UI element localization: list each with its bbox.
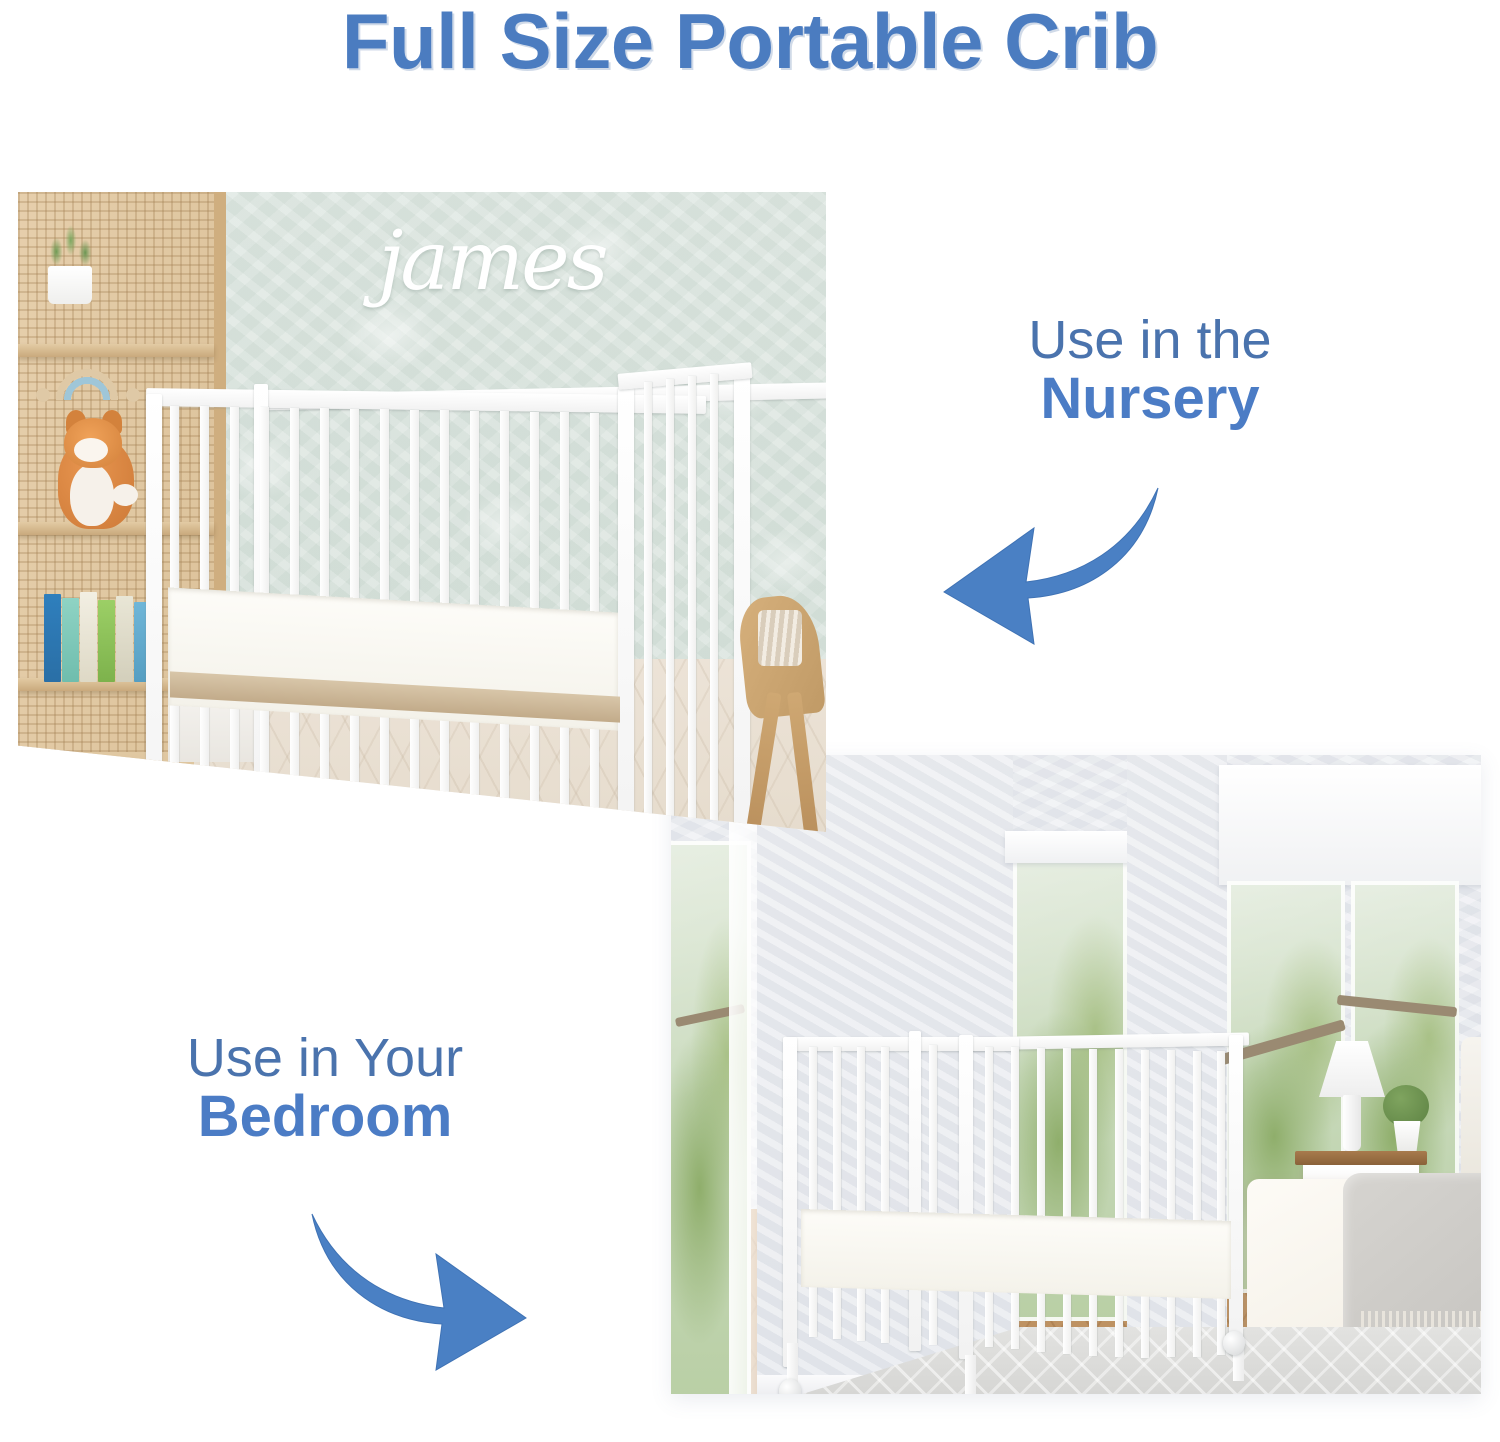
- tree-branch: [1337, 995, 1457, 1017]
- wall-art-name: james: [378, 210, 678, 320]
- stuffed-fox-snout: [74, 438, 108, 462]
- photo-bedroom: [671, 755, 1481, 1394]
- rocking-horse-mane: [758, 610, 802, 666]
- book: [44, 594, 61, 682]
- shelf-lower-cabinet: [18, 752, 194, 832]
- callout-nursery-line2: Nursery: [960, 369, 1340, 430]
- crib-corner-post-left-front: [783, 1037, 797, 1367]
- crib-corner-post-right-front: [618, 388, 634, 832]
- crib-leg-center-front: [965, 1355, 976, 1394]
- stuffed-fox-tail-tip: [112, 484, 138, 506]
- book: [116, 596, 133, 682]
- crib-corner-post-left-front: [146, 394, 162, 832]
- table-lamp-base: [1343, 1095, 1361, 1151]
- callout-bedroom-line2: Bedroom: [130, 1087, 520, 1148]
- crib-corner-post-left-back: [909, 1031, 921, 1351]
- product-feature-image: Full Size Portable Crib james: [0, 0, 1500, 1442]
- wood-bead: [36, 388, 50, 402]
- caster-right: [1223, 1331, 1245, 1355]
- page-title: Full Size Portable Crib: [0, 0, 1500, 87]
- curved-arrow-right-icon: [300, 1196, 540, 1376]
- book: [98, 600, 115, 682]
- photo-nursery: james: [18, 192, 826, 832]
- childrens-books: [40, 590, 158, 682]
- nightstand-top: [1295, 1151, 1427, 1165]
- window-valance-right: [1219, 765, 1481, 885]
- book: [62, 598, 79, 682]
- crib-corner-post-right: [1229, 1035, 1243, 1353]
- rainbow-stacker-toy: [44, 362, 130, 400]
- crib-mattress: [801, 1209, 1231, 1299]
- callout-bedroom: Use in Your Bedroom: [130, 1030, 520, 1148]
- stuffed-fox-belly: [70, 464, 114, 526]
- shelf-board: [18, 344, 214, 357]
- wood-bead: [126, 388, 140, 402]
- wooden-rocking-horse: [738, 596, 826, 832]
- potted-plant-pot: [48, 266, 92, 304]
- nursery-scene: james: [18, 192, 826, 832]
- callout-nursery-line1: Use in the: [960, 312, 1340, 369]
- callout-nursery: Use in the Nursery: [960, 312, 1340, 430]
- callout-bedroom-line1: Use in Your: [130, 1030, 520, 1087]
- window-valance-center: [1005, 831, 1135, 863]
- book: [80, 592, 97, 682]
- bedroom-scene: [671, 755, 1481, 1394]
- topiary-plant: [1383, 1085, 1429, 1127]
- crib-corner-post-center: [959, 1035, 973, 1359]
- curved-arrow-left-icon: [930, 470, 1170, 650]
